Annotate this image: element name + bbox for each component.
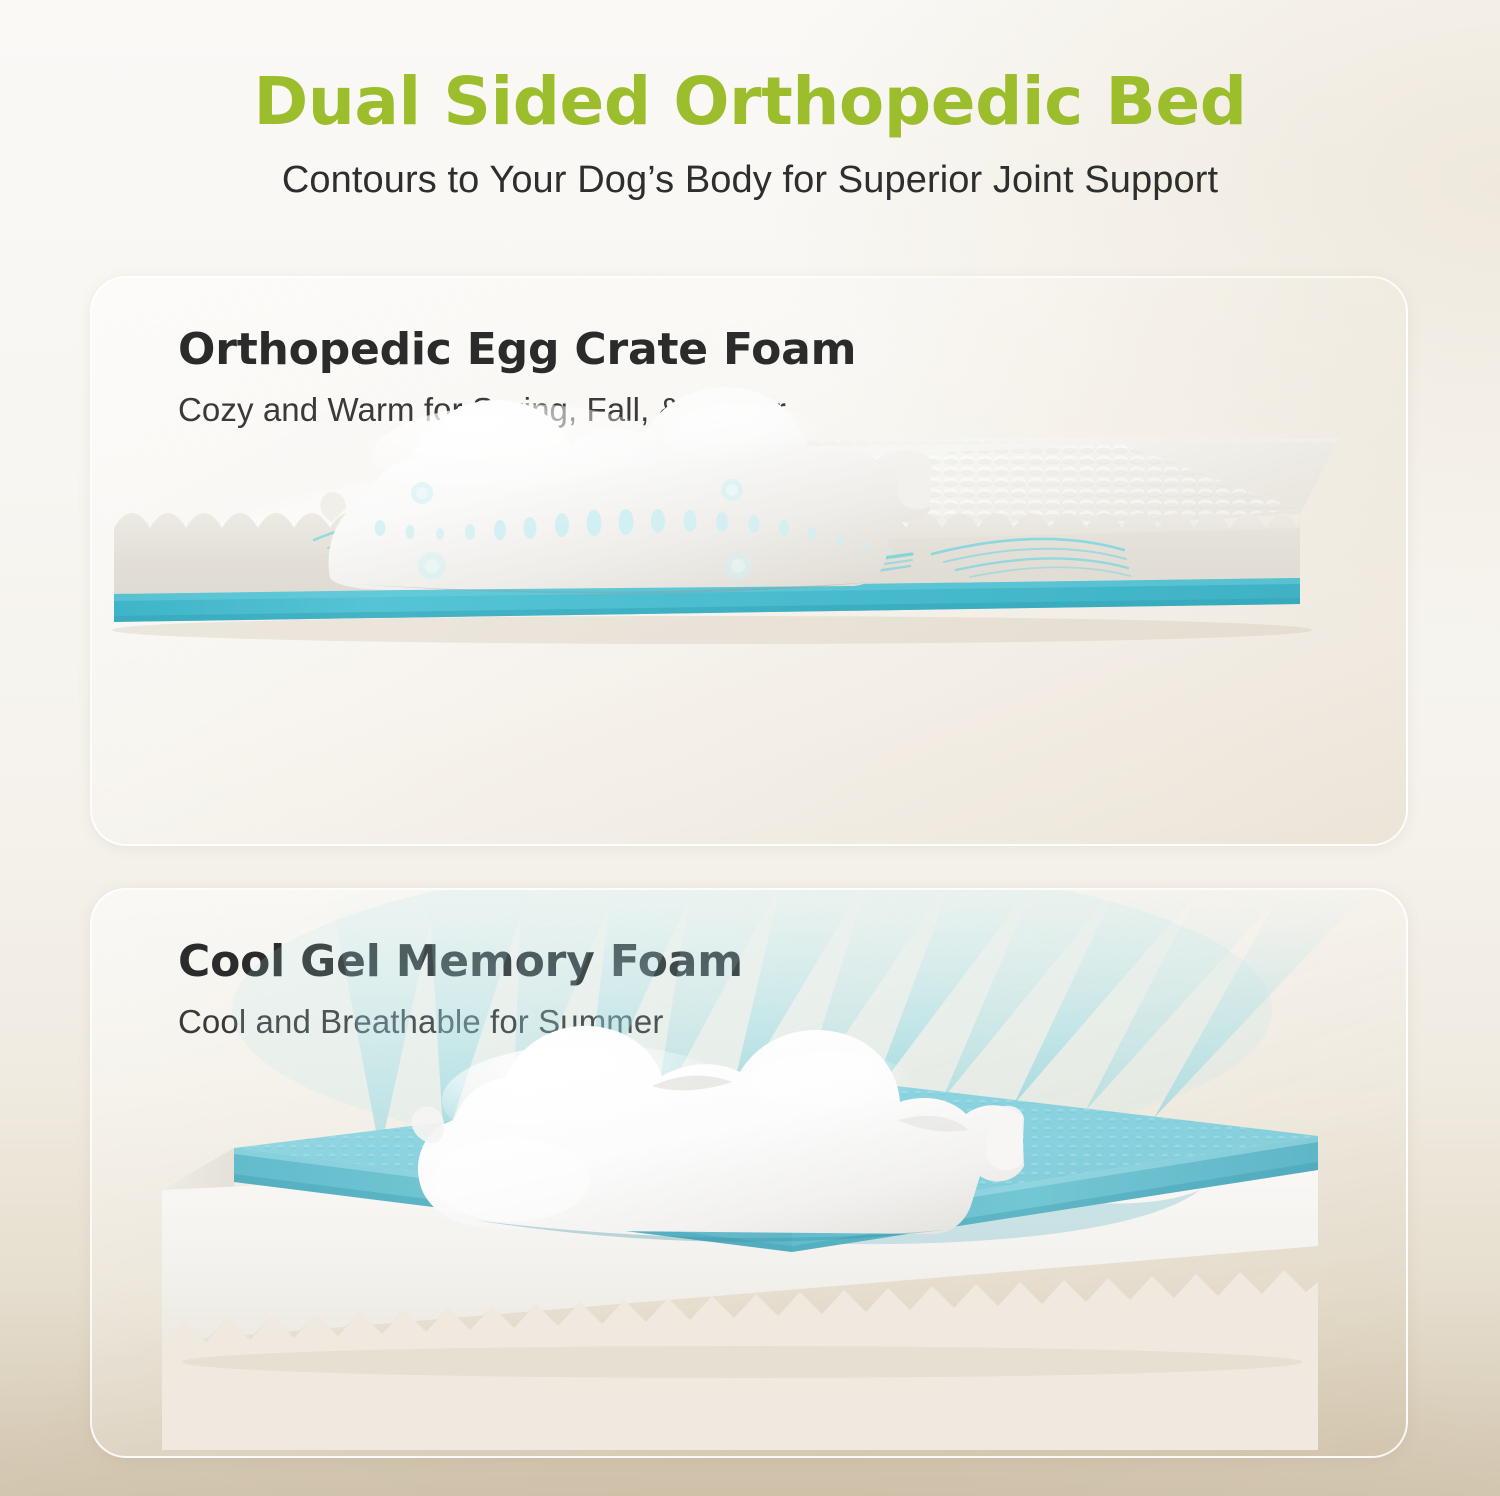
figure-egg-crate-foam [92,278,1406,844]
figure-cool-gel-foam [92,890,1406,1456]
header: Dual Sided Orthopedic Bed Contours to Yo… [0,0,1500,202]
page-title: Dual Sided Orthopedic Bed [0,68,1500,137]
page-subtitle: Contours to Your Dog’s Body for Superior… [0,159,1500,202]
dog-silhouette-egg-crate [320,387,932,593]
feature-card-egg-crate: Orthopedic Egg Crate Foam Cozy and Warm … [90,276,1408,846]
feature-card-cool-gel: Cool Gel Memory Foam Cool and Breathable… [90,888,1408,1458]
